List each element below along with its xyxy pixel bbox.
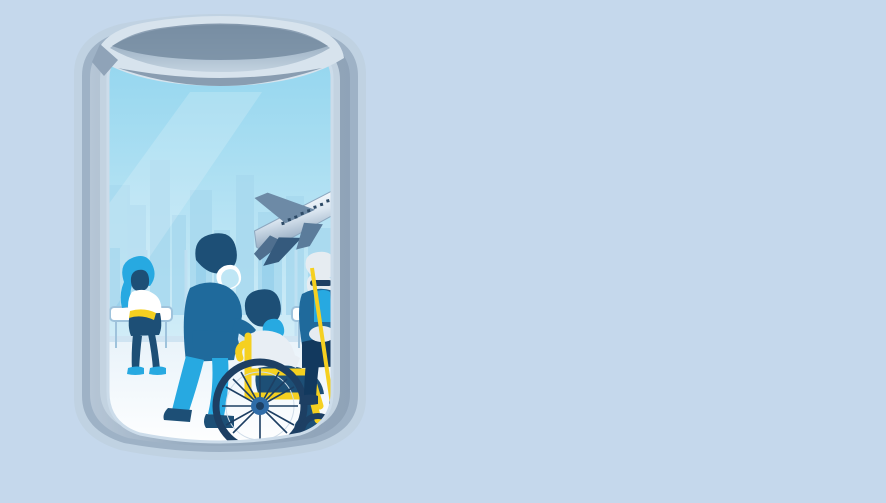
airplane-window-illustration [0,0,440,498]
subtitle-line-2: Issue 9 – 2025 [880,366,886,396]
title-panel: EUROPEAN DISABILITY FORUM Rights Delayed… [440,0,886,498]
report-subtitle: European Human Rights Report Issue 9 – 2… [880,336,886,396]
subtitle-line-1: European Human Rights Report [880,336,886,366]
poster-canvas: EUROPEAN DISABILITY FORUM Rights Delayed… [0,0,886,498]
